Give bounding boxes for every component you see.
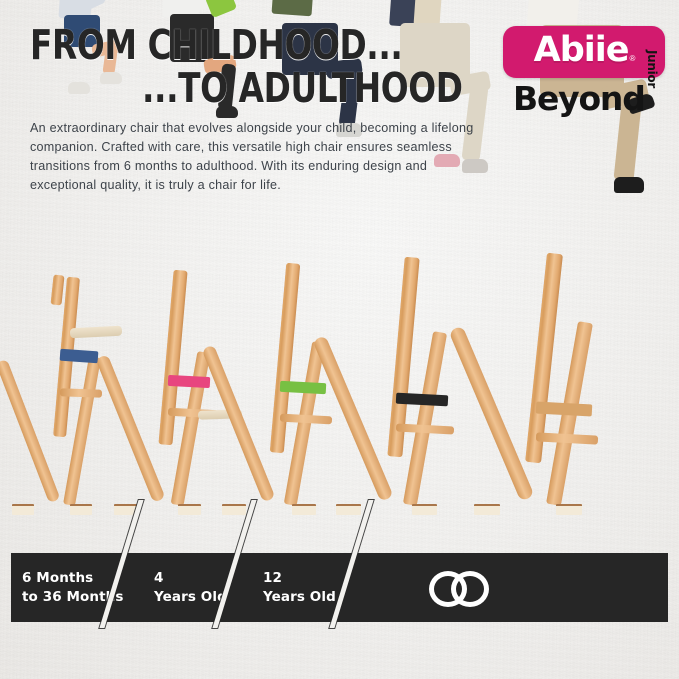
seat-cushion-toddler xyxy=(60,349,99,364)
arm xyxy=(81,0,107,12)
growth-stages-illustration xyxy=(0,205,679,515)
figure-man xyxy=(478,205,663,515)
registered-mark-icon: ® xyxy=(629,54,635,63)
logo-junior-text: Junior xyxy=(645,50,659,88)
logo-beyond-text: Beyond xyxy=(513,82,645,117)
headline-block: FROM CHILDHOOD... ...TO ADULTHOOD xyxy=(30,26,500,109)
age-timeline-bar: 6 Months to 36 Months 4 Years Old 12 Yea… xyxy=(11,553,668,622)
infinity-icon xyxy=(429,571,481,597)
logo-pill: Abiie ® xyxy=(503,26,665,78)
sock xyxy=(614,177,644,193)
headline-line-1: FROM CHILDHOOD... xyxy=(30,26,406,66)
product-infographic: FROM CHILDHOOD... ...TO ADULTHOOD An ext… xyxy=(0,0,679,679)
description-paragraph: An extraordinary chair that evolves alon… xyxy=(30,119,495,196)
figure-boy xyxy=(222,205,357,515)
logo-brand-text: Abiie xyxy=(534,33,629,68)
torso xyxy=(272,0,317,16)
headline-line-2: ...TO ADULTHOOD xyxy=(30,69,406,109)
timeline-label-1: 4 Years Old xyxy=(154,569,227,607)
timeline-label-2: 12 Years Old xyxy=(263,569,336,607)
seat-cushion-boy xyxy=(280,381,327,394)
seat-cushion-young-girl xyxy=(168,375,211,388)
logo-secondary-row: Beyond Junior xyxy=(503,82,665,124)
brand-logo: Abiie ® Beyond Junior xyxy=(503,26,665,124)
